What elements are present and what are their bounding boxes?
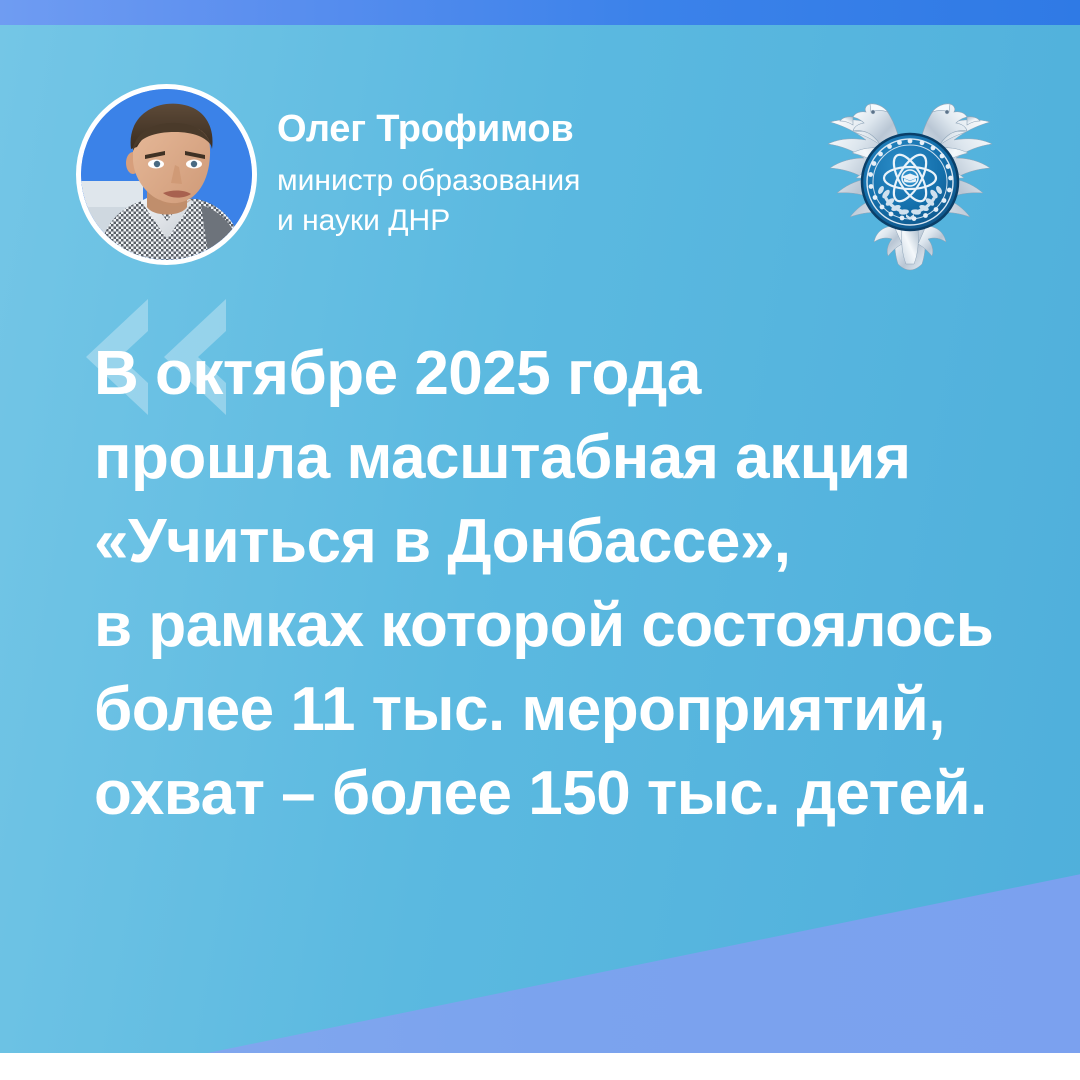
dnr-coat-of-arms-icon — [810, 78, 1010, 278]
quote-line: более 11 тыс. мероприятий, — [94, 668, 1054, 752]
quote-line: в рамках которой состоялось — [94, 584, 1054, 668]
quote-line: охват – более 150 тыс. детей. — [94, 752, 1054, 836]
speaker-role-line-1: министр образования — [277, 161, 797, 201]
bottom-white-strip — [0, 1053, 1080, 1080]
quote-text: В октябре 2025 года прошла масштабная ак… — [94, 332, 1054, 836]
quote-line: прошла масштабная акция — [94, 416, 1054, 500]
card-header: Олег Трофимов министр образования и наук… — [0, 0, 1080, 300]
avatar — [76, 84, 257, 265]
quote-card: Олег Трофимов министр образования и наук… — [0, 0, 1080, 1080]
bottom-diagonal-accent — [0, 870, 1080, 1080]
speaker-role-line-2: и науки ДНР — [277, 201, 797, 241]
quote-line: «Учиться в Донбассе», — [94, 500, 1054, 584]
quote-line: В октябре 2025 года — [94, 332, 1054, 416]
avatar-photo — [81, 89, 252, 260]
speaker-info: Олег Трофимов министр образования и наук… — [277, 110, 797, 241]
speaker-name: Олег Трофимов — [277, 110, 797, 148]
